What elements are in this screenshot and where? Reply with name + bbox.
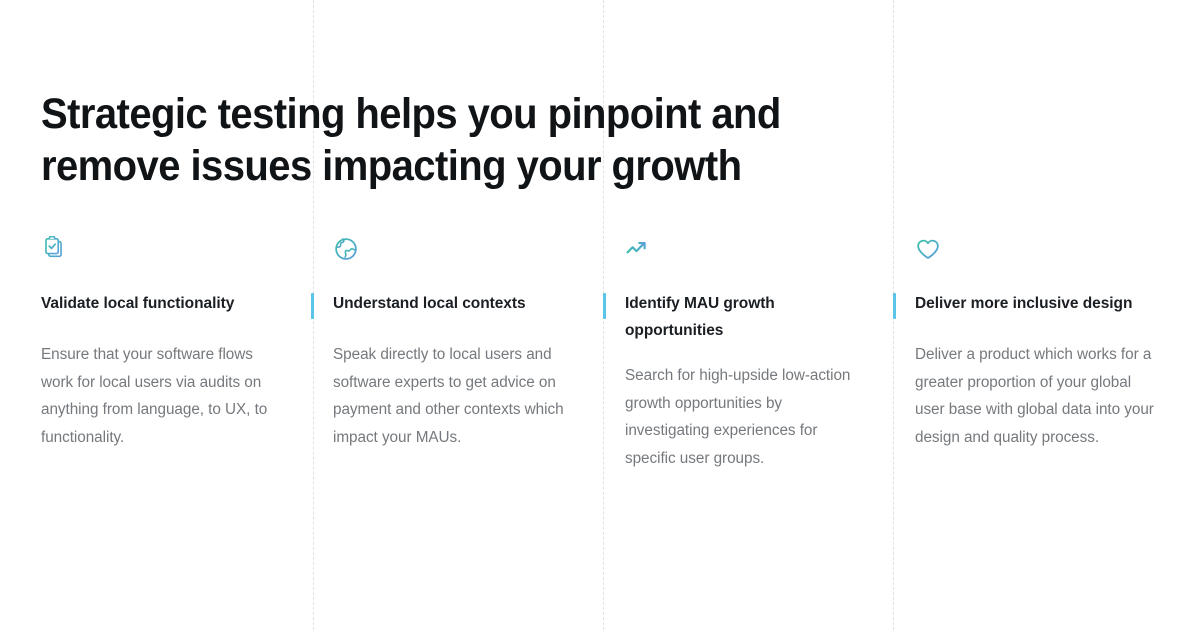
feature-heading-text: Deliver more inclusive design <box>915 295 1132 312</box>
feature-heading-text: Validate local functionality <box>41 295 234 312</box>
feature-heading: Understand local contexts <box>333 290 567 317</box>
accent-bar <box>311 293 314 319</box>
heart-icon <box>915 236 1164 270</box>
accent-bar <box>603 293 606 319</box>
clipboard-check-icon <box>41 236 277 270</box>
globe-icon <box>333 236 567 270</box>
page-title-line-2: remove issues impacting your growth <box>41 140 776 192</box>
page-root: Strategic testing helps you pinpoint and… <box>0 0 1200 630</box>
feature-heading: Identify MAU growth opportunities <box>625 290 857 344</box>
feature-columns: Validate local functionality Ensure that… <box>0 236 1200 536</box>
accent-bar <box>893 293 896 319</box>
feature-body: Deliver a product which works for a grea… <box>915 341 1164 451</box>
feature-heading-text: Identify MAU growth opportunities <box>625 295 775 339</box>
feature-heading: Validate local functionality <box>41 290 277 317</box>
feature-body: Search for high-upside low-action growth… <box>625 362 857 472</box>
feature-body: Ensure that your software flows work for… <box>41 341 277 451</box>
feature-column-inclusive-design: Deliver more inclusive design Deliver a … <box>893 236 1200 536</box>
feature-column-mau-growth: Identify MAU growth opportunities Search… <box>603 236 893 536</box>
feature-body: Speak directly to local users and softwa… <box>333 341 567 451</box>
feature-heading: Deliver more inclusive design <box>915 290 1164 317</box>
page-title-line-1: Strategic testing helps you pinpoint and <box>41 88 776 140</box>
feature-column-contexts: Understand local contexts Speak directly… <box>313 236 603 536</box>
trending-up-icon <box>625 236 857 270</box>
feature-heading-text: Understand local contexts <box>333 295 526 312</box>
feature-column-validate: Validate local functionality Ensure that… <box>0 236 313 536</box>
page-title: Strategic testing helps you pinpoint and… <box>41 88 776 192</box>
